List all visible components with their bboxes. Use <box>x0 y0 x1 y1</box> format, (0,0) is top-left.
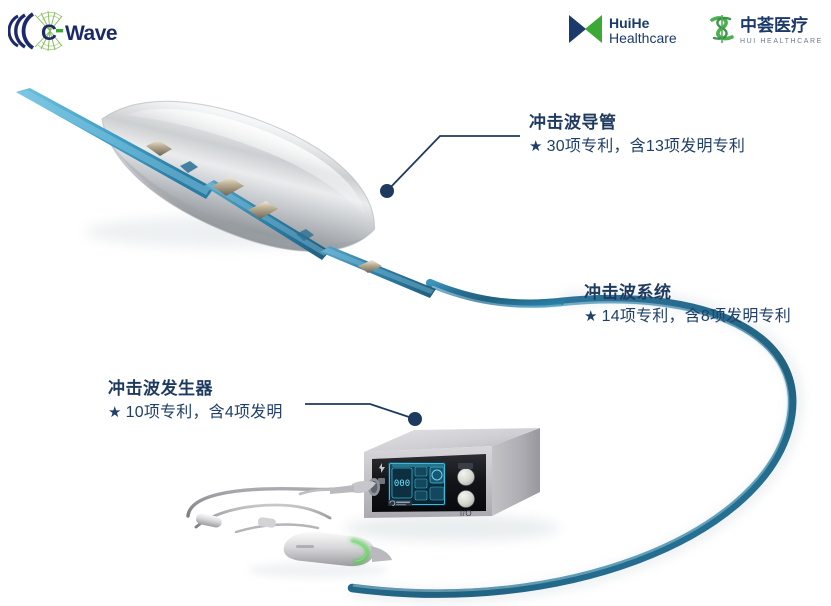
annotation-generator-detail: ★10项专利，含4项发明 <box>108 401 283 425</box>
shockwave-generator: 000 <box>300 428 560 541</box>
c-wave-letter-c: C <box>41 20 57 45</box>
huihe-line2: Healthcare <box>609 30 677 46</box>
device-brand-plate <box>388 500 412 506</box>
product-infographic-page: 000 <box>0 0 831 606</box>
logo-huihe-healthcare: HuiHe Healthcare <box>566 10 696 48</box>
huihe-bowtie-icon <box>569 15 602 43</box>
annotation-generator-title: 冲击波发生器 <box>108 378 283 401</box>
c-wave-dash <box>56 29 63 32</box>
zhonghui-line2: HUI HEALTHCARE <box>740 38 823 45</box>
annotation-system-title: 冲击波系统 <box>584 282 791 305</box>
shockwave-balloon-catheter <box>16 65 436 298</box>
annotation-catheter: 冲击波导管 ★30项专利，含13项发明专利 <box>529 112 745 159</box>
zhonghui-caduceus-icon <box>712 15 732 43</box>
huihe-logo-mark: HuiHe Healthcare <box>566 10 696 48</box>
svg-text:000: 000 <box>394 479 410 489</box>
annotation-system-detail: ★14项专利，含8项发明专利 <box>584 305 791 329</box>
star-icon: ★ <box>584 308 602 325</box>
c-wave-arcs <box>9 14 33 48</box>
annotation-generator-detail-text: 10项专利，含4项发明 <box>126 404 283 421</box>
annotation-system: 冲击波系统 ★14项专利，含8项发明专利 <box>584 282 791 329</box>
zhonghui-logo-mark: 中荟医疗 HUI HEALTHCARE <box>706 10 824 48</box>
annotation-generator: 冲击波发生器 ★10项专利，含4项发明 <box>108 378 283 425</box>
logo-c-wave: C Wave <box>8 8 118 54</box>
huihe-line1: HuiHe <box>609 15 650 31</box>
catheter-handle <box>248 532 392 578</box>
zhonghui-line1: 中荟医疗 <box>740 15 808 35</box>
annotation-system-detail-text: 14项专利，含8项发明专利 <box>602 308 791 325</box>
annotation-catheter-detail: ★30项专利，含13项发明专利 <box>529 135 745 159</box>
c-wave-logo-mark: C Wave <box>8 8 118 54</box>
svg-text:I/O: I/O <box>460 509 472 518</box>
logo-zhonghui-medical: 中荟医疗 HUI HEALTHCARE <box>706 10 824 48</box>
c-wave-wordmark: Wave <box>65 22 117 45</box>
annotation-catheter-detail-text: 30项专利，含13项发明专利 <box>547 138 745 155</box>
star-icon: ★ <box>108 404 126 421</box>
star-icon: ★ <box>529 138 547 155</box>
annotation-catheter-title: 冲击波导管 <box>529 112 745 135</box>
